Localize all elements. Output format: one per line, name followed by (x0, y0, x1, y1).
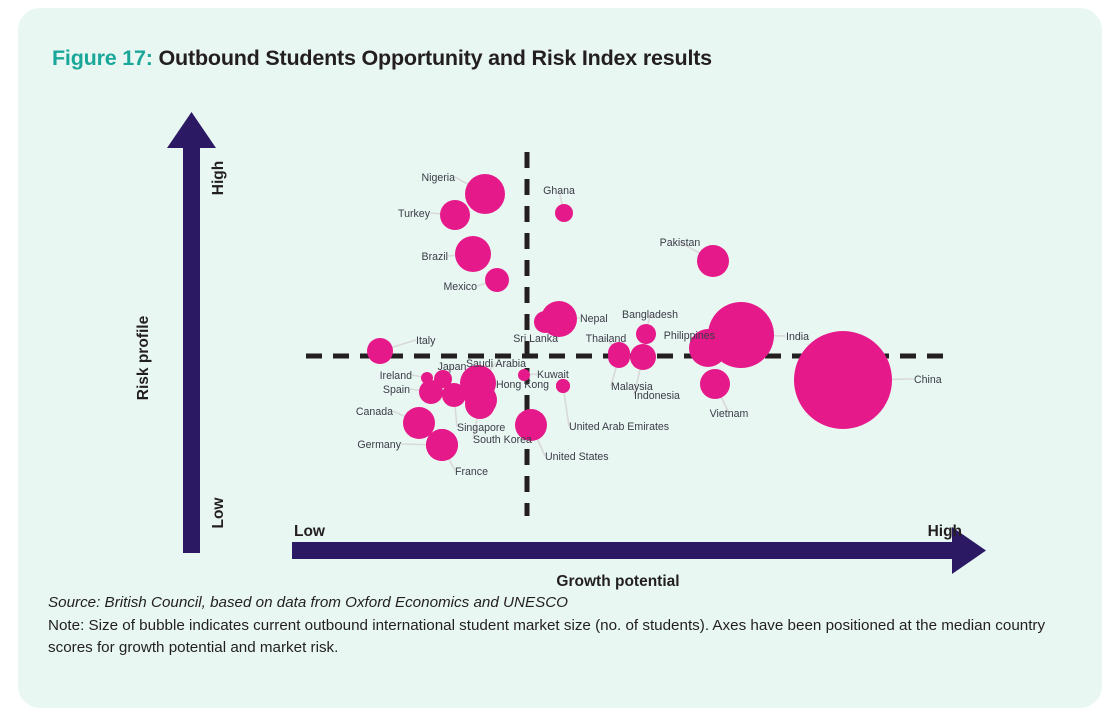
bubble-united-arab-emirates[interactable] (556, 379, 570, 393)
bubble-label-saudi-arabia: Saudi Arabia (466, 358, 526, 370)
bubble-singapore[interactable] (442, 383, 466, 407)
bubble-label-vietnam: Vietnam (710, 408, 749, 420)
bubble-italy[interactable] (367, 338, 393, 364)
bubble-label-pakistan: Pakistan (660, 237, 701, 249)
bubble-india[interactable] (708, 302, 774, 368)
bubble-label-india: India (786, 331, 809, 343)
y-axis-low-label: Low (210, 497, 227, 529)
bubble-label-canada: Canada (356, 406, 393, 418)
bubble-mexico[interactable] (485, 268, 509, 292)
y-axis-arrow (167, 112, 216, 553)
bubble-label-italy: Italy (416, 335, 436, 347)
bubble-label-spain: Spain (383, 384, 410, 396)
bubble-malaysia[interactable] (608, 346, 630, 368)
bubble-label-thailand: Thailand (586, 333, 627, 345)
x-axis-low-label: Low (294, 523, 326, 540)
bubble-pakistan[interactable] (697, 245, 729, 277)
bubble-label-turkey: Turkey (398, 208, 431, 220)
figure-card: Figure 17: Outbound Students Opportunity… (18, 8, 1102, 708)
bubble-label-china: China (914, 374, 942, 386)
bubble-brazil[interactable] (455, 236, 491, 272)
bubble-label-kuwait: Kuwait (537, 369, 569, 381)
footer: Source: British Council, based on data f… (48, 592, 1078, 659)
x-axis-label: Growth potential (556, 573, 679, 590)
bubble-label-germany: Germany (357, 439, 401, 451)
bubble-label-philippines: Philippines (664, 330, 715, 342)
bubble-label-brazil: Brazil (422, 251, 449, 263)
bubble-label-bangladesh: Bangladesh (622, 309, 678, 321)
bubble-label-indonesia: Indonesia (634, 390, 680, 402)
bubble-china[interactable] (794, 331, 892, 429)
x-axis-high-label: High (928, 523, 962, 540)
x-axis-arrow (292, 527, 986, 574)
bubble-ghana[interactable] (555, 204, 573, 222)
bubble-sri-lanka[interactable] (534, 311, 556, 333)
bubble-vietnam[interactable] (700, 369, 730, 399)
bubble-label-nigeria: Nigeria (421, 172, 455, 184)
bubble-france[interactable] (426, 429, 458, 461)
bubble-south-korea[interactable] (465, 384, 497, 416)
bubble-label-sri-lanka: Sri Lanka (513, 333, 558, 345)
bubble-label-south-korea: South Korea (473, 434, 532, 446)
bubble-nigeria[interactable] (465, 174, 505, 214)
bubble-bangladesh[interactable] (636, 324, 656, 344)
y-axis-label: Risk profile (135, 315, 152, 400)
bubble-label-united-states: United States (545, 451, 609, 463)
bubble-label-nepal: Nepal (580, 313, 608, 325)
bubble-label-france: France (455, 466, 488, 478)
note-text: Note: Size of bubble indicates current o… (48, 615, 1078, 659)
bubble-spain[interactable] (419, 380, 443, 404)
bubble-label-united-arab-emirates: United Arab Emirates (569, 421, 669, 433)
bubble-label-mexico: Mexico (443, 281, 477, 293)
bubble-label-singapore: Singapore (457, 422, 505, 434)
source-text: Source: British Council, based on data f… (48, 592, 1078, 613)
y-axis-high-label: High (210, 161, 227, 195)
bubble-indonesia[interactable] (630, 344, 656, 370)
bubble-turkey[interactable] (440, 200, 470, 230)
bubble-label-ireland: Ireland (380, 370, 412, 382)
bubble-label-japan: Japan (438, 361, 467, 373)
bubble-label-ghana: Ghana (543, 185, 575, 197)
